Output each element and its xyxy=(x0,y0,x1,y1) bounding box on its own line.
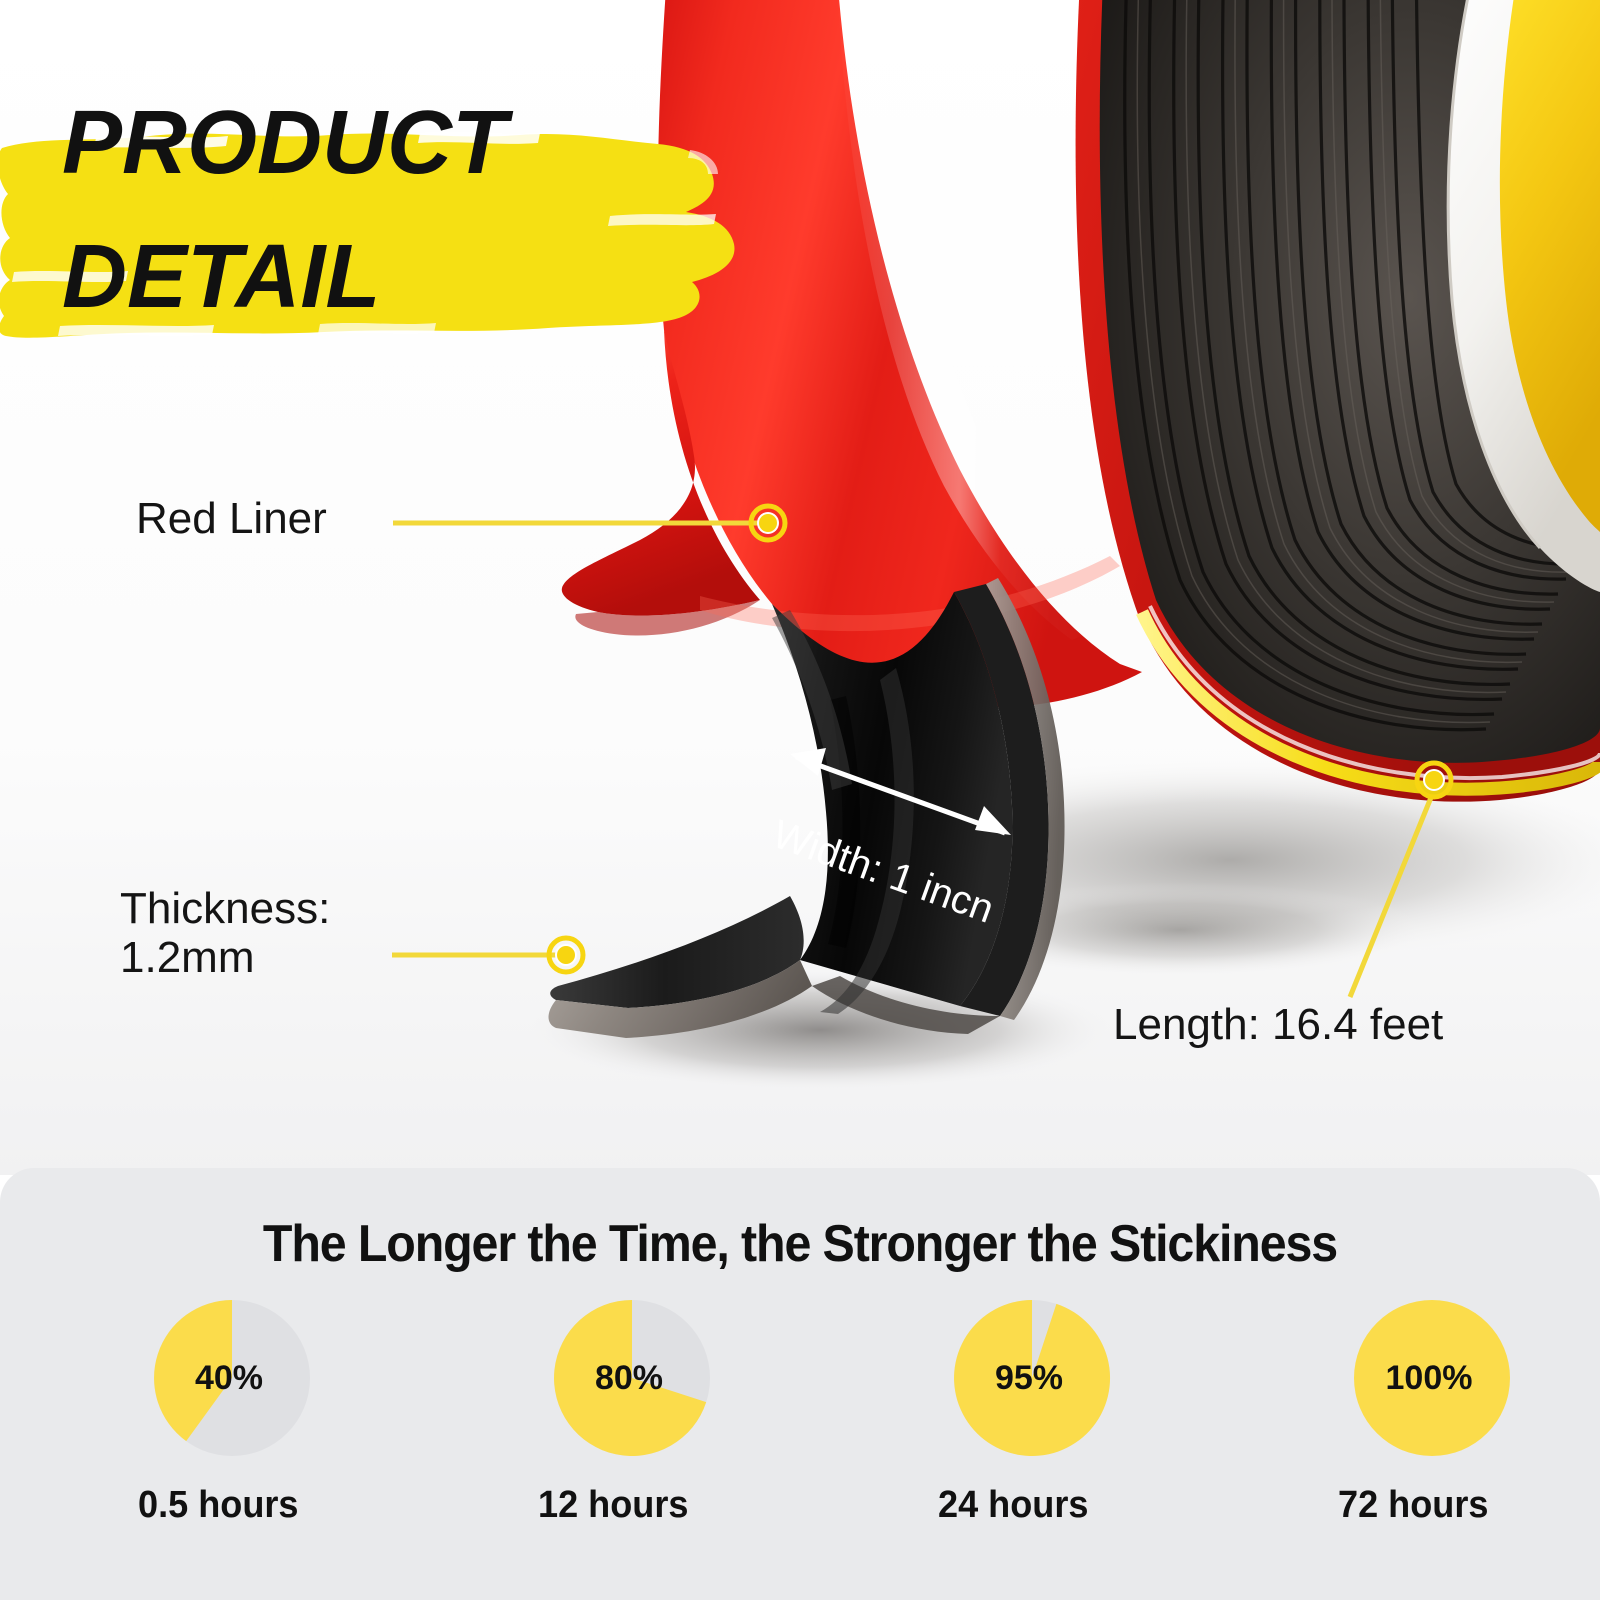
title-line-detail: DETAIL xyxy=(62,232,380,322)
pie-cell-0: 40% 0.5 hours xyxy=(0,1298,400,1527)
product-detail-infographic: Width: 1 incn PRODUCT DETAIL xyxy=(0,0,1600,1600)
pie-chart-0-percent: 40% xyxy=(152,1298,312,1458)
callout-label-red-liner: Red Liner xyxy=(136,494,327,543)
pie-chart-1-percent: 80% xyxy=(552,1298,712,1458)
pie-chart-0-label: 0.5 hours xyxy=(138,1484,299,1527)
pie-cell-1: 80% 12 hours xyxy=(400,1298,800,1527)
callout-thickness-line1: Thickness: xyxy=(120,884,330,933)
pie-cell-2: 95% 24 hours xyxy=(800,1298,1200,1527)
pie-chart-2: 95% xyxy=(952,1298,1112,1458)
pie-chart-3: 100% xyxy=(1352,1298,1512,1458)
pie-chart-2-label: 24 hours xyxy=(938,1484,1088,1527)
pie-chart-3-percent: 100% xyxy=(1352,1298,1512,1458)
page-title-block: PRODUCT DETAIL xyxy=(0,40,760,350)
pie-cell-3: 100% 72 hours xyxy=(1200,1298,1600,1527)
callout-label-length: Length: 16.4 feet xyxy=(1113,1000,1443,1049)
stickiness-panel: The Longer the Time, the Stronger the St… xyxy=(0,1168,1600,1600)
pie-chart-1-label: 12 hours xyxy=(538,1484,688,1527)
pie-chart-3-label: 72 hours xyxy=(1338,1484,1488,1527)
pie-chart-1: 80% xyxy=(552,1298,712,1458)
stickiness-panel-heading: The Longer the Time, the Stronger the St… xyxy=(56,1214,1544,1274)
callout-thickness-line2: 1.2mm xyxy=(120,933,330,982)
pie-chart-2-percent: 95% xyxy=(952,1298,1112,1458)
pie-chart-0: 40% xyxy=(152,1298,312,1458)
callout-label-thickness: Thickness: 1.2mm xyxy=(120,884,330,983)
stickiness-pie-row: 40% 0.5 hours 80% 12 hours xyxy=(0,1298,1600,1527)
title-line-product: PRODUCT xyxy=(62,98,507,188)
